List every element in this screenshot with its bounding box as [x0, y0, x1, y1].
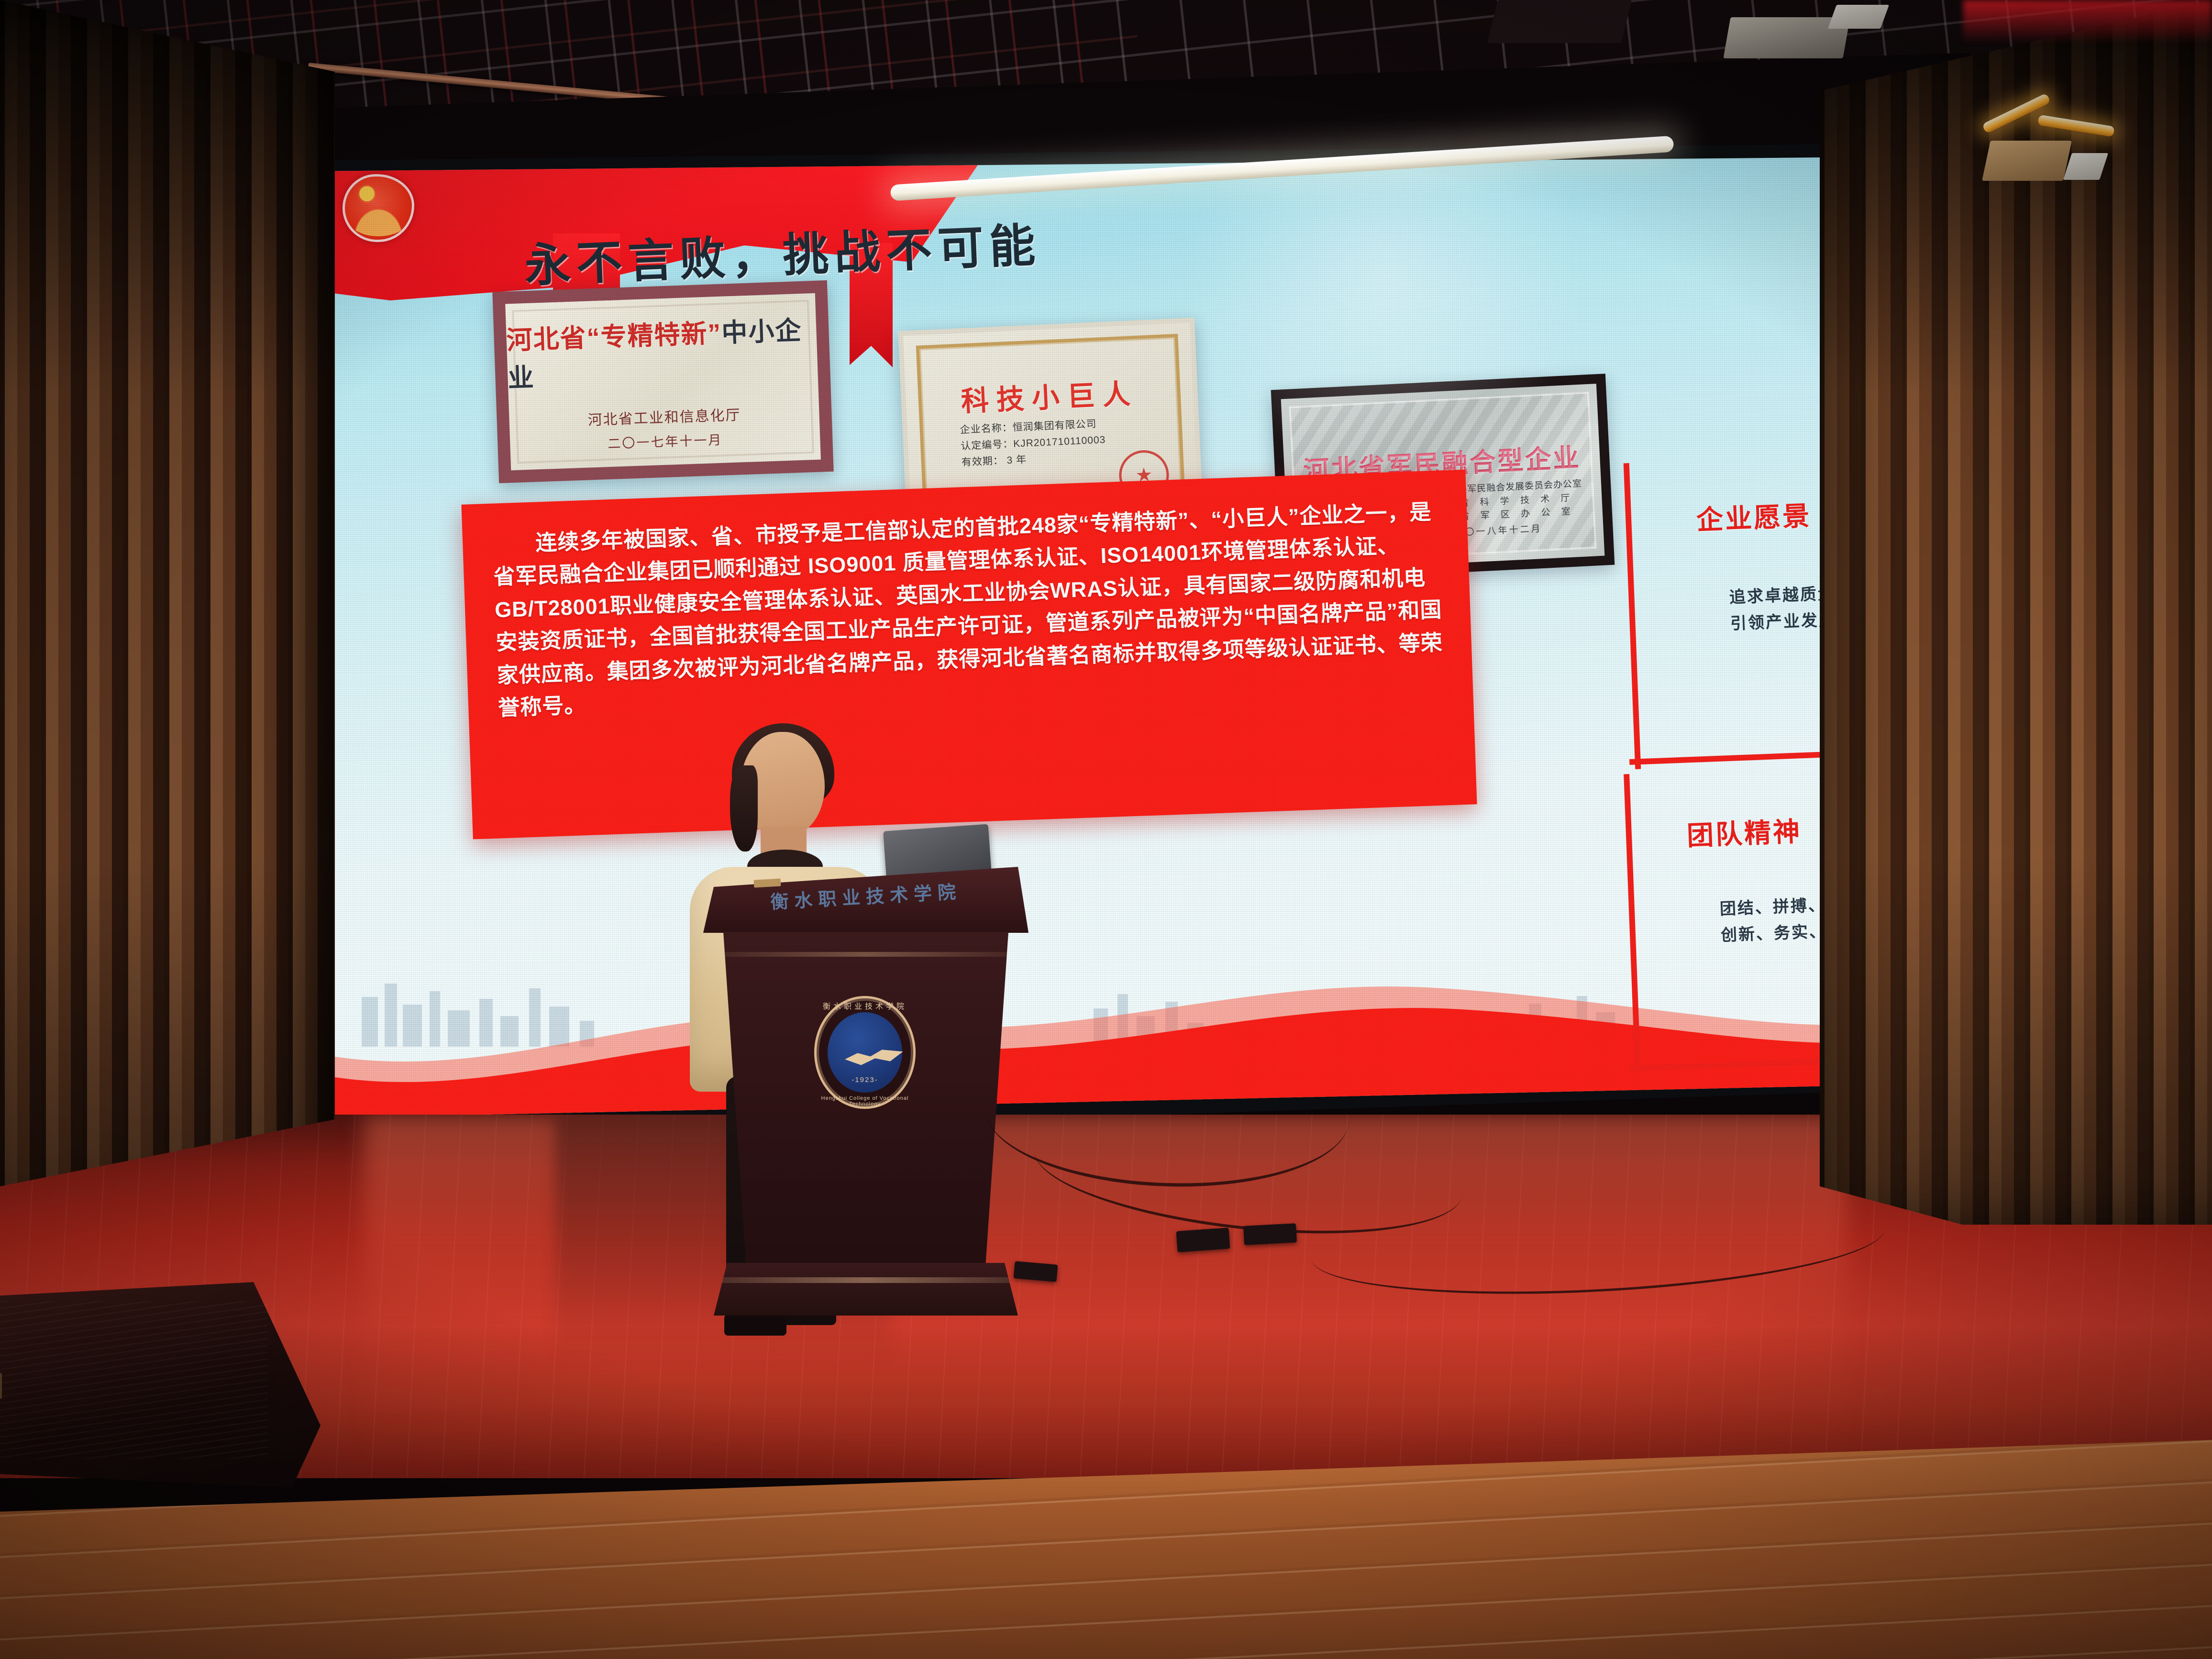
presenter-hair-side [730, 765, 758, 852]
bird-icon [845, 1044, 903, 1068]
seal-founding-year: -1923- [814, 1076, 916, 1084]
auditorium-stage-photo: 永不言败，挑战不可能 河北省“专精特新”中小企业 河北省工业和信息化厅 二〇一七… [0, 0, 2212, 1659]
plaque-issuer: 河北省工业和信息化厅 [587, 403, 741, 429]
plaque-zhuanjingtexin: 河北省“专精特新”中小企业 河北省工业和信息化厅 二〇一七年十一月 [492, 280, 834, 483]
ceiling-red-glow [1963, 0, 2212, 43]
slide-surface: 永不言败，挑战不可能 河北省“专精特新”中小企业 河北省工业和信息化厅 二〇一七… [304, 157, 1878, 1118]
speaker-housing [1487, 0, 1632, 43]
wedge-badge [0, 1373, 2, 1399]
stage-monitor-speaker [0, 1282, 340, 1502]
slide-body-text: 连续多年被国家、省、市授予是工信部认定的首批248家“专精特新”、“小巨人”企业… [492, 495, 1448, 724]
slide-body-textbox: 连续多年被国家、省、市授予是工信部认定的首批248家“专精特新”、“小巨人”企业… [461, 470, 1477, 840]
vision-heading: 企业愿景 [1696, 494, 1812, 537]
led-presentation-screen[interactable]: 永不言败，挑战不可能 河北省“专精特新”中小企业 河北省工业和信息化厅 二〇一七… [297, 144, 1885, 1143]
plaque-title-red: 河北省“专精特新” [506, 319, 722, 355]
lamp-tube-a [1982, 93, 2051, 134]
ceiling-light-fixture-right [1976, 91, 2196, 215]
podium-metal-tag [754, 878, 781, 887]
lamp-tube-b [2037, 115, 2114, 137]
podium-trim-band [723, 952, 1008, 957]
plaque-title-line: 河北省“专精特新”中小企业 [506, 308, 818, 395]
vision-frame-left [1624, 463, 1641, 769]
curtain-left-shading [0, 0, 335, 1225]
podium-base [714, 1263, 1018, 1316]
lectern-podium[interactable]: 衡水职业技术学院 衡水职业技术学院 -1923- Hengshui Colleg… [703, 861, 1029, 1349]
certificate-fields: 企业名称：恒润集团有限公司 认定编号：KJR201710110003 有效期： … [960, 416, 1107, 471]
communist-youth-league-emblem [343, 174, 414, 242]
lamp-reflector-2 [1828, 5, 1889, 29]
emblem-wheat-icon [348, 202, 409, 236]
ceiling-speaker-box [1493, 0, 1626, 57]
seal-name-cn: 衡水职业技术学院 [814, 1000, 916, 1011]
lamp-housing [1982, 141, 2072, 181]
ceiling-light-fixture-center [1698, 0, 1899, 91]
lamp-reflector [2063, 153, 2108, 180]
floor-cable-box-c[interactable] [1014, 1261, 1058, 1282]
college-seal-emblem: 衡水职业技术学院 -1923- Hengshui College of Voca… [814, 996, 916, 1109]
plaque-date: 二〇一七年十一月 [608, 429, 723, 452]
spirit-heading: 团队精神 [1686, 810, 1803, 853]
floor-cable-box-b[interactable] [1243, 1223, 1297, 1245]
podium-base-trim [714, 1277, 1018, 1283]
stage-curtain-left [0, 0, 335, 1225]
wedge-grille [0, 1301, 268, 1459]
floor-cable-box-a[interactable] [1176, 1228, 1230, 1252]
seal-name-en: Hengshui College of Vocational Technolog… [814, 1095, 916, 1107]
